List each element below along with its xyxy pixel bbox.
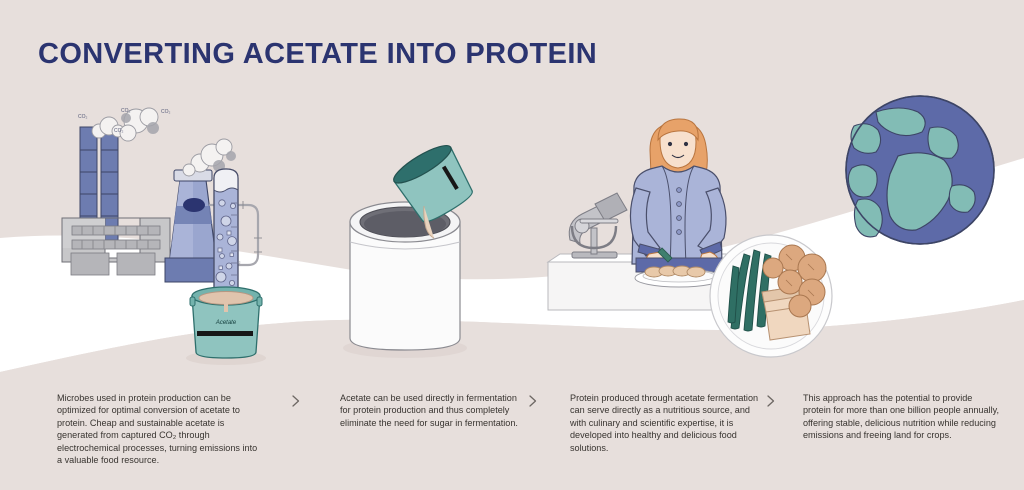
- chevron-right-icon: [289, 393, 303, 409]
- co2-label: CO₂: [121, 108, 131, 114]
- caption-nutrition-text: Protein produced through acetate ferment…: [570, 392, 760, 454]
- chevron-right-icon: [526, 393, 540, 409]
- caption-microbes-text: Microbes used in protein production can …: [57, 392, 263, 466]
- captions-row: Microbes used in protein production can …: [0, 392, 1024, 490]
- co2-label: CO₂: [114, 128, 124, 134]
- caption-microbes: Microbes used in protein production can …: [57, 392, 263, 466]
- co2-label: CO₂: [78, 114, 88, 120]
- co2-label: CO₂: [161, 109, 171, 115]
- caption-fermentation: Acetate can be used directly in fermenta…: [340, 392, 530, 429]
- microscope: [569, 193, 627, 258]
- acetate-bucket-label: Acetate: [215, 320, 237, 326]
- fermentation-tank: [343, 202, 467, 358]
- caption-impact: This approach has the potential to provi…: [803, 392, 999, 442]
- food-plate: [710, 235, 832, 357]
- acetate-bucket: Acetate: [186, 287, 266, 365]
- globe: [846, 96, 994, 244]
- caption-fermentation-text: Acetate can be used directly in fermenta…: [340, 392, 530, 429]
- illustration-scene: .ln { stroke:#4a4f6b; stroke-width:1; fi…: [0, 0, 1024, 400]
- caption-impact-text: This approach has the potential to provi…: [803, 392, 999, 442]
- caption-nutrition: Protein produced through acetate ferment…: [570, 392, 760, 454]
- chevron-right-icon: [764, 393, 778, 409]
- chef-figure: [630, 119, 726, 272]
- infographic-root: CONVERTING ACETATE INTO PROTEIN .ln { st…: [0, 0, 1024, 490]
